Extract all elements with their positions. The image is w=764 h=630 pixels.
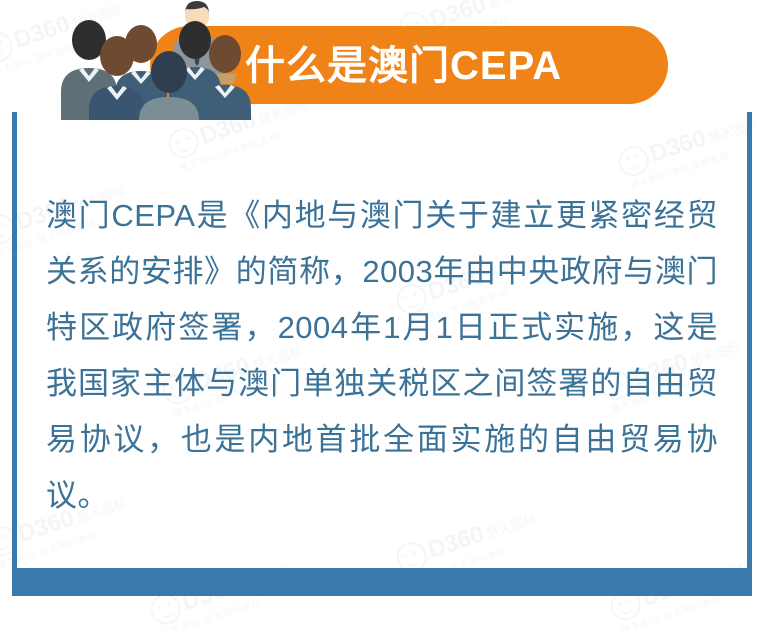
header-band: 什么是澳门CEPA	[0, 0, 764, 120]
frame-left-rule	[12, 112, 17, 574]
page-title: 什么是澳门CEPA	[245, 38, 665, 94]
watermark-brand-big: D360	[646, 125, 709, 168]
watermark-logo-icon	[615, 142, 653, 180]
frame-bottom-bar	[12, 568, 752, 596]
watermark-brand-big: D360	[424, 521, 487, 564]
watermark-brand-sub: 慧天图标·慧天图标素材	[0, 516, 135, 572]
watermark-logo-icon	[0, 522, 21, 560]
watermark-logo-icon	[165, 124, 203, 162]
watermark-brand-sub: 慧天图标·慧天图标素材	[628, 136, 764, 192]
poster-page: D360慧天图标 慧天图标·慧天图标素材 D360慧天图标 慧天图标·慧天图标素…	[0, 0, 764, 630]
body-paragraph: 澳门CEPA是《内地与澳门关于建立更紧密经贸关系的安排》的简称，2003年由中央…	[46, 188, 718, 524]
watermark-brand-sub: 慧天图标·慧天图标素材	[178, 118, 316, 174]
frame-right-rule	[747, 112, 752, 574]
